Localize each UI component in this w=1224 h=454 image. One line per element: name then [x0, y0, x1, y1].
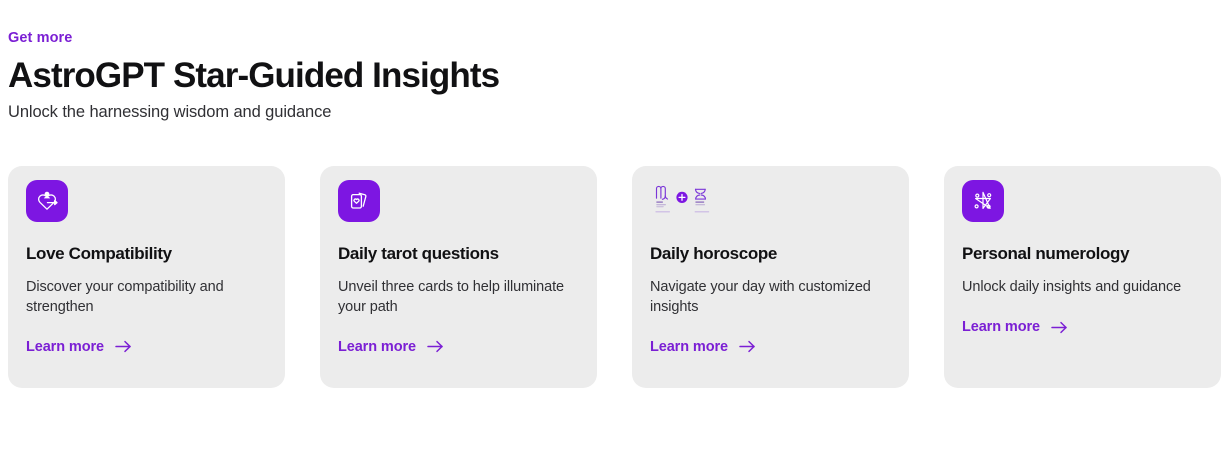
feature-card-love-compatibility[interactable]: Love Compatibility Discover your compati…	[8, 166, 285, 388]
learn-more-link[interactable]: Learn more	[650, 340, 756, 355]
learn-more-link[interactable]: Learn more	[26, 340, 132, 355]
learn-more-label: Learn more	[338, 340, 416, 355]
card-title: Love Compatibility	[26, 244, 267, 264]
card-description: Unveil three cards to help illuminate yo…	[338, 278, 579, 317]
card-title: Personal numerology	[962, 244, 1203, 264]
card-description: Discover your compatibility and strength…	[26, 278, 267, 317]
pentagram-stars-icon	[962, 180, 1004, 222]
eyebrow-label: Get more	[8, 31, 1218, 46]
arrow-right-icon	[427, 340, 444, 353]
card-description: Unlock daily insights and guidance	[962, 278, 1203, 298]
learn-more-link[interactable]: Learn more	[338, 340, 444, 355]
page-subtitle: Unlock the harnessing wisdom and guidanc…	[8, 102, 1218, 123]
learn-more-label: Learn more	[962, 320, 1040, 335]
arrow-right-icon	[115, 340, 132, 353]
feature-card-row: Love Compatibility Discover your compati…	[8, 166, 1221, 388]
arrow-right-icon	[739, 340, 756, 353]
learn-more-label: Learn more	[650, 340, 728, 355]
promo-section: Get more AstroGPT Star-Guided Insights U…	[0, 0, 1224, 454]
card-description: Navigate your day with customized insigh…	[650, 278, 891, 317]
section-header: Get more AstroGPT Star-Guided Insights U…	[8, 0, 1218, 123]
feature-card-daily-horoscope[interactable]: Daily horoscope Navigate your day with c…	[632, 166, 909, 388]
feature-card-personal-numerology[interactable]: Personal numerology Unlock daily insight…	[944, 166, 1221, 388]
learn-more-link[interactable]: Learn more	[962, 320, 1068, 335]
page-title: AstroGPT Star-Guided Insights	[8, 58, 1218, 95]
feature-card-daily-tarot-questions[interactable]: Daily tarot questions Unveil three cards…	[320, 166, 597, 388]
learn-more-label: Learn more	[26, 340, 104, 355]
card-title: Daily horoscope	[650, 244, 891, 264]
tarot-cards-icon	[338, 180, 380, 222]
heart-person-arrow-icon	[26, 180, 68, 222]
arrow-right-icon	[1051, 321, 1068, 334]
card-title: Daily tarot questions	[338, 244, 579, 264]
zodiac-pair-plus-icon	[650, 180, 714, 222]
